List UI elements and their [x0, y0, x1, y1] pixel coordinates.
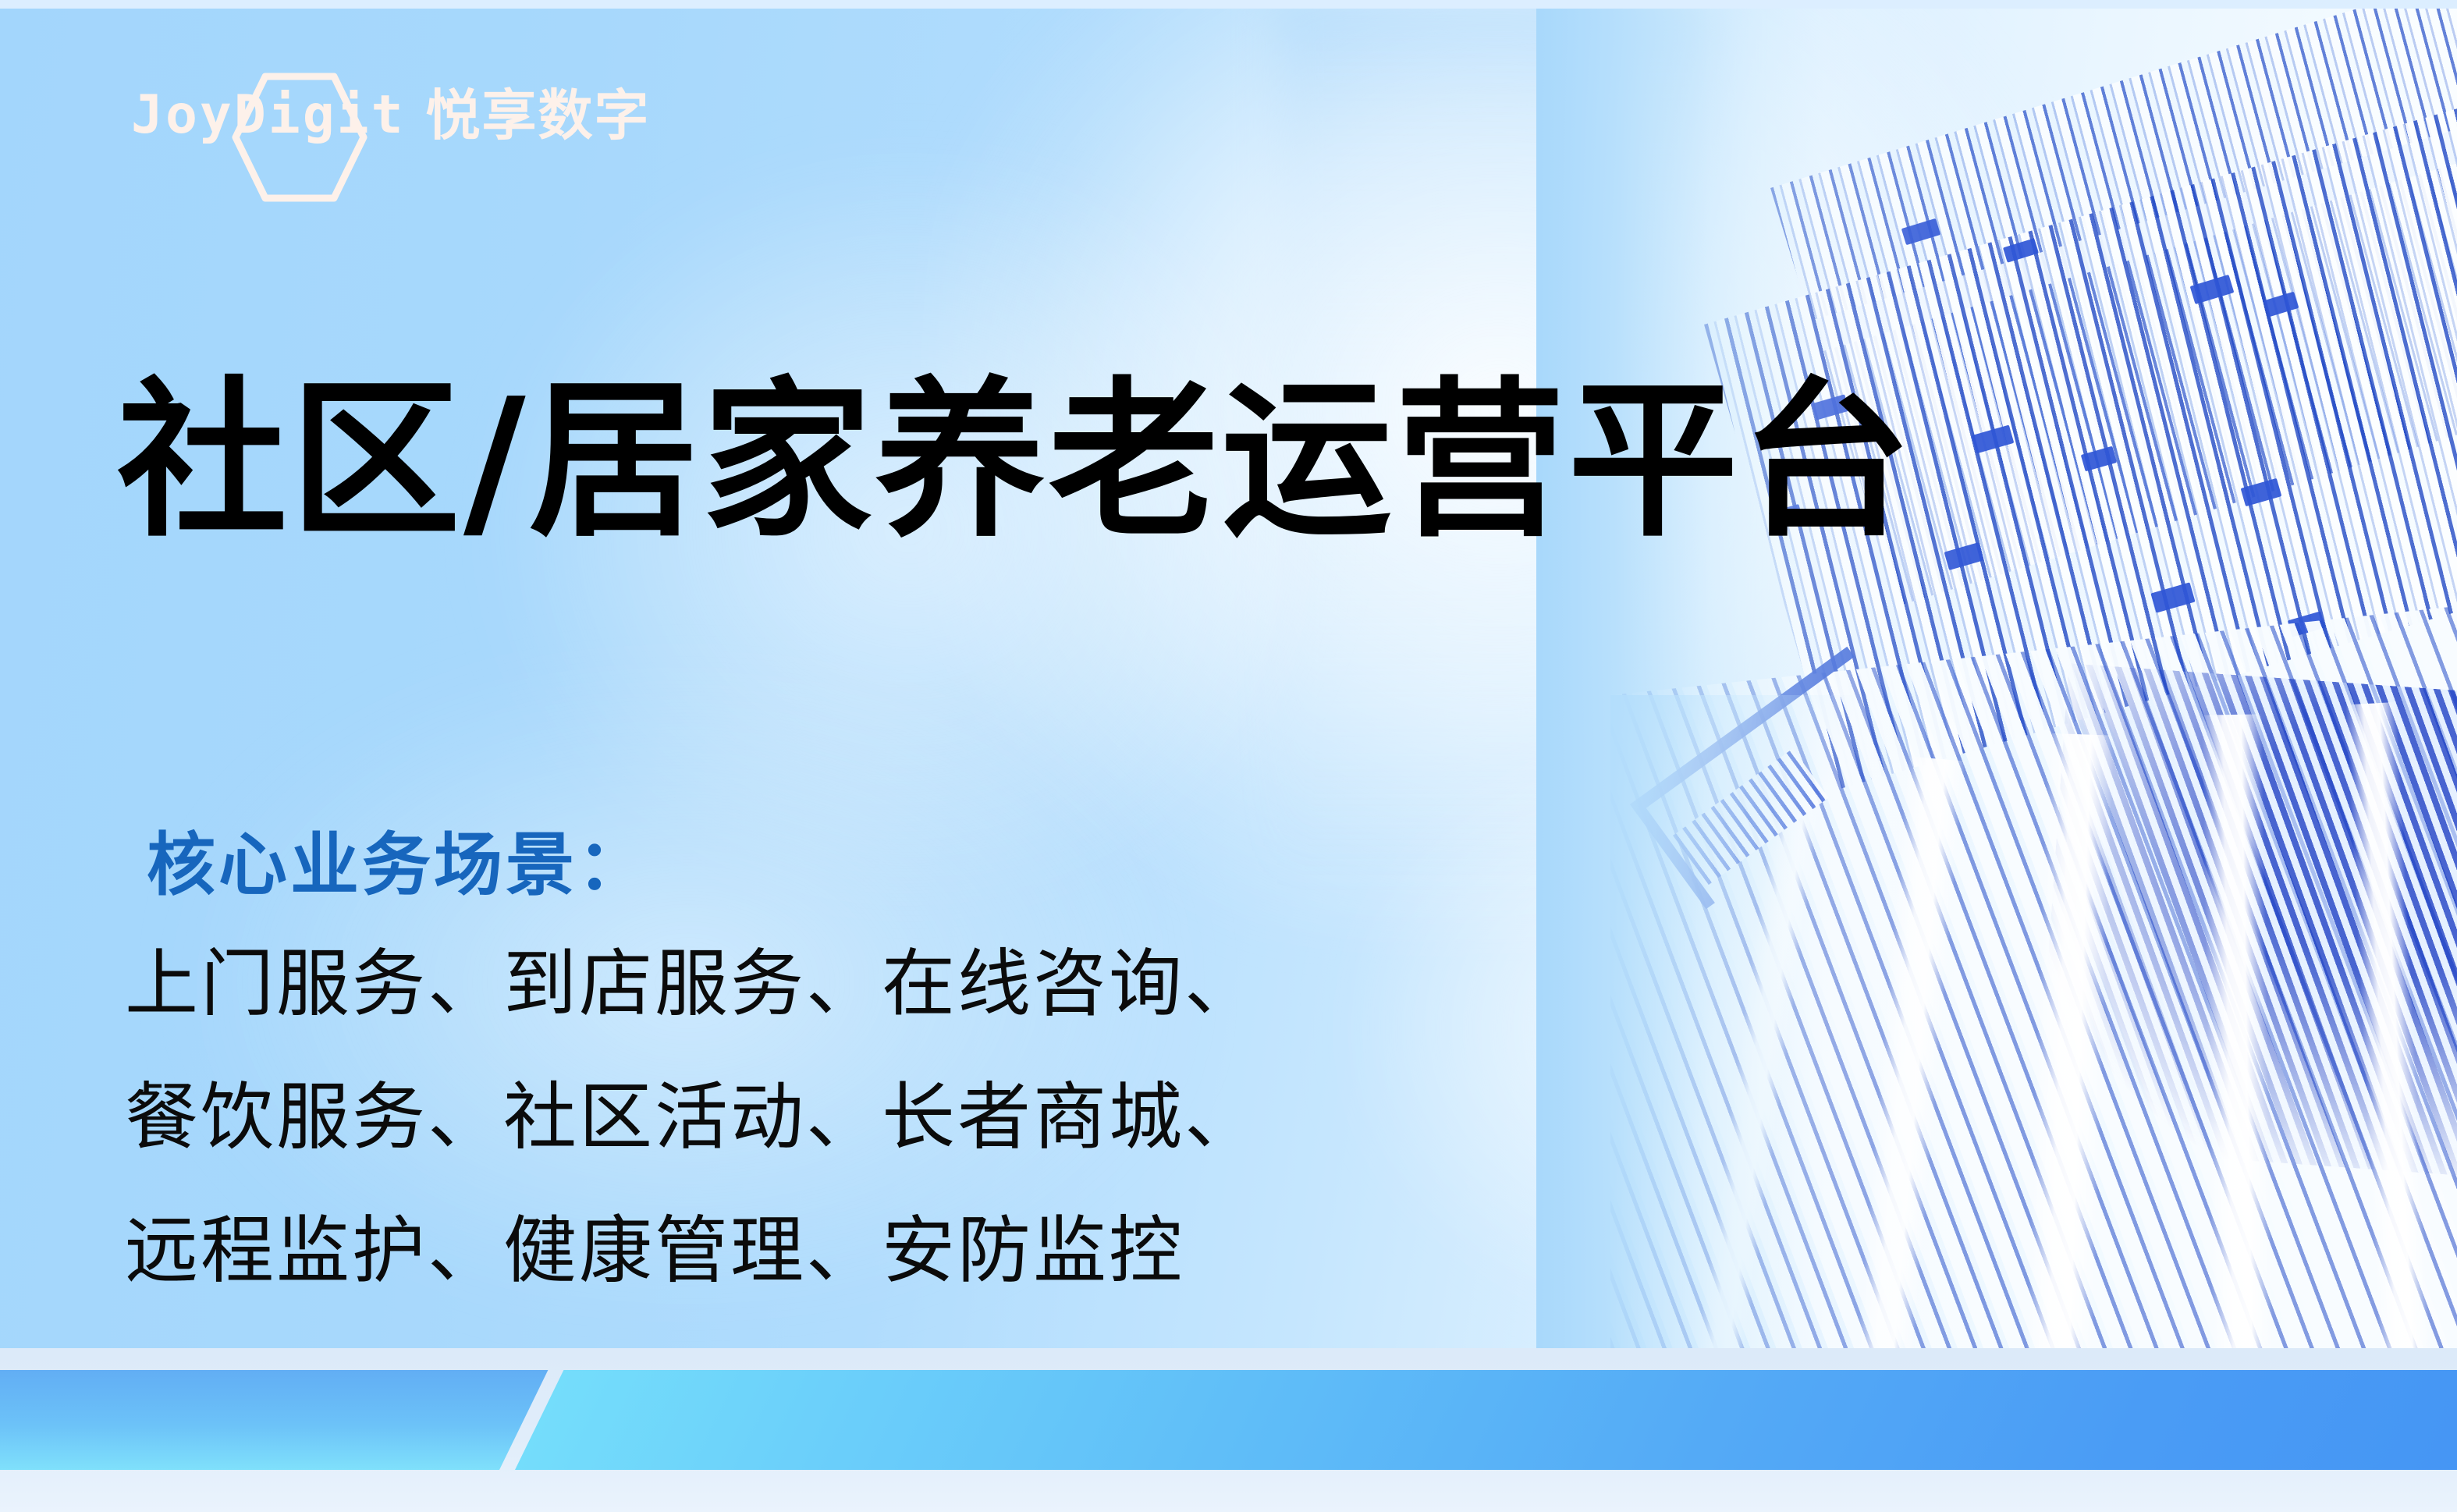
scenario-line: 上门服务、到店服务、在线咨询、 [125, 917, 1607, 1051]
bottom-band-right [515, 1370, 2457, 1470]
section-heading: 核心业务场景： [147, 828, 649, 903]
bottom-band-left [0, 1370, 548, 1470]
page-title: 社区/居家养老运营平台 [117, 365, 1915, 559]
scenario-line: 餐饮服务、社区活动、长者商城、 [125, 1051, 1607, 1184]
bottom-decoration [0, 1348, 2457, 1512]
skyscraper-photo [1536, 9, 2457, 1393]
logo-mark-wrap: JoyDigit [131, 89, 406, 142]
scenario-line: 远程监护、健康管理、安防监控 [125, 1184, 1607, 1318]
top-accent-strip [0, 0, 2457, 9]
brand-wordmark: JoyDigit [131, 89, 406, 142]
brand-name-cn: 悦享数字 [426, 88, 651, 143]
brand-logo: JoyDigit 悦享数字 [131, 67, 651, 164]
slide-root: JoyDigit 悦享数字 社区/居家养老运营平台 核心业务场景： 上门服务、到… [0, 0, 2457, 1512]
scenario-list: 上门服务、到店服务、在线咨询、 餐饮服务、社区活动、长者商城、 远程监护、健康管… [125, 917, 1607, 1318]
